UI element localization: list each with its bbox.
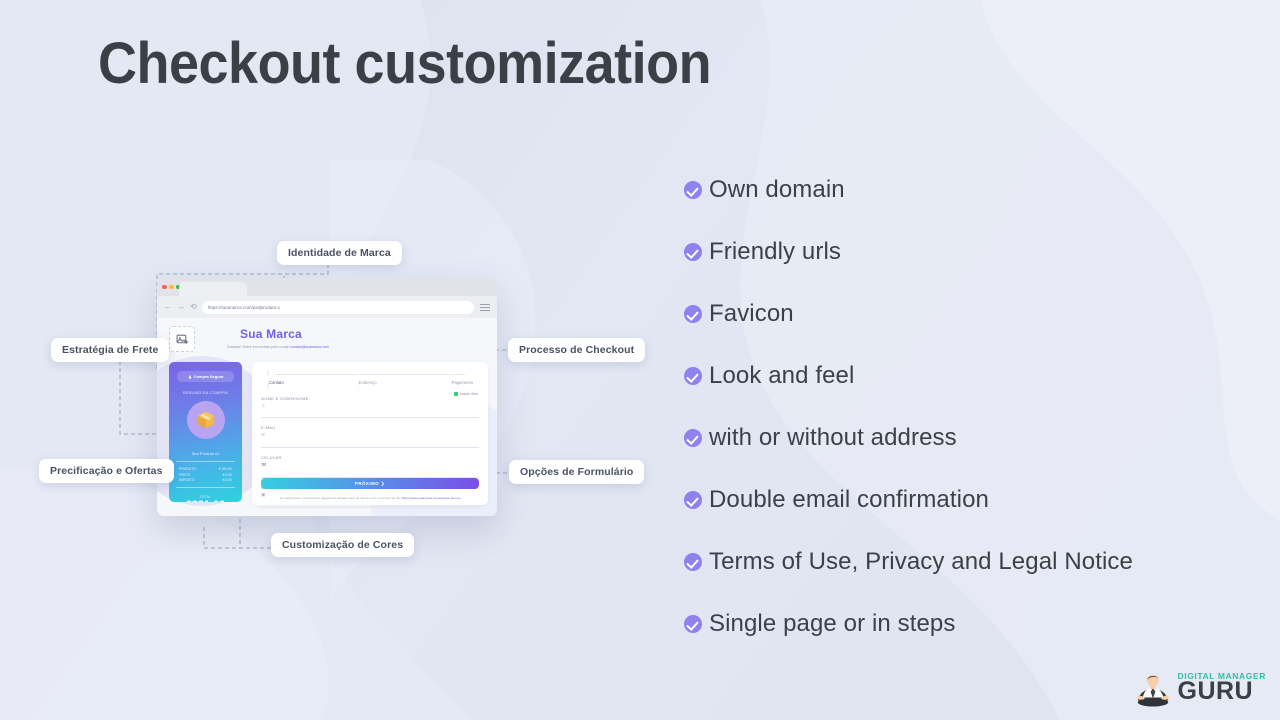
feature-label: Friendly urls (709, 238, 841, 266)
summary-row-label: FRETE (179, 473, 190, 477)
page-title: Checkout customization (98, 34, 711, 95)
total-value: €281.00 (169, 499, 242, 502)
field-label: NOME E SOBRENOME (261, 396, 479, 401)
callout-checkout-process: Processo de Checkout (508, 338, 645, 362)
summary-row-value: € 0,00 (223, 473, 232, 477)
privacy-badge: Intacto Web (454, 392, 478, 396)
field-email[interactable]: E-MAIL ✉ (261, 425, 479, 448)
field-celular[interactable]: CELULAR ☎ (261, 455, 479, 478)
callout-pricing-offers: Precificação e Ofertas (39, 459, 174, 483)
field-label: E-MAIL (261, 425, 479, 430)
list-item: Double email confirmation (684, 480, 1244, 520)
terms-text: Ao seguir para o processo de pagamento d… (274, 496, 466, 501)
summary-row-label: PRODUTO (179, 467, 196, 471)
check-circle-icon (684, 615, 702, 633)
check-circle-icon (684, 243, 702, 261)
checkout-form-card: Contato Endereço Pagamento Intacto Web (252, 362, 488, 505)
store-contact-line: Dúvidas? Entre em contato pelo e-mail co… (227, 345, 329, 349)
feature-label: Look and feel (709, 362, 854, 390)
minimize-dot-icon[interactable] (169, 285, 174, 290)
reload-icon[interactable]: ⟲ (190, 303, 197, 311)
check-circle-icon (684, 553, 702, 571)
feature-label: Double email confirmation (709, 486, 989, 514)
lock-icon (188, 375, 192, 379)
secure-purchase-badge: Compra Segura (177, 371, 234, 382)
store-brand-name: Sua Marca (240, 327, 302, 341)
feature-label: Own domain (709, 176, 845, 204)
feature-label: with or without address (709, 424, 957, 452)
privacy-badge-label: Intacto Web (460, 392, 478, 396)
logo-wordmark: DIGITAL MANAGER GURU (1178, 672, 1267, 704)
step-pagamento[interactable]: Pagamento (450, 371, 473, 389)
summary-row-label: IMPOSTO (179, 478, 195, 482)
terms-sentence: Ao seguir para o processo de pagamento d… (280, 496, 401, 500)
summary-heading: RESUMO DA COMPRA (169, 391, 242, 395)
field-underline (261, 417, 479, 418)
summary-row: IMPOSTO € 0,00 (169, 478, 242, 482)
list-item: Look and feel (684, 356, 1244, 396)
secure-badge-label: Compra Segura (194, 374, 224, 379)
list-item: Favicon (684, 294, 1244, 334)
digital-manager-guru-logo: DIGITAL MANAGER GURU (1134, 668, 1267, 708)
envelope-icon: ✉ (261, 432, 479, 438)
field-underline (261, 507, 479, 508)
summary-row-value: € 281,00 (219, 467, 232, 471)
callout-form-options: Opções de Formulário (509, 460, 644, 484)
browser-toolbar: ← → ⟲ https://suamarca.com/pedproduto-x (157, 296, 497, 318)
field-label: CELULAR (261, 455, 479, 460)
field-nome[interactable]: NOME E SOBRENOME ☺ (261, 396, 479, 418)
order-total: TOTAL €281.00 (169, 495, 242, 502)
checkout-mockup-diagram: ← → ⟲ https://suamarca.com/pedproduto-x … (28, 228, 658, 568)
field-underline (261, 447, 479, 448)
order-summary-panel: Compra Segura RESUMO DA COMPRA Seu Produ… (169, 362, 242, 502)
back-arrow-icon[interactable]: ← (164, 303, 172, 311)
feature-label: Favicon (709, 300, 794, 328)
terms-link[interactable]: https://www.suamarca.com/informe-de-uso (402, 496, 461, 500)
forward-arrow-icon[interactable]: → (177, 303, 185, 311)
address-bar[interactable]: https://suamarca.com/pedproduto-x (202, 301, 474, 314)
list-item: Own domain (684, 170, 1244, 210)
step-label: Endereço (359, 380, 377, 385)
close-dot-icon[interactable] (162, 285, 167, 290)
list-item: with or without address (684, 418, 1244, 458)
list-item: Single page or in steps (684, 604, 1244, 644)
callout-shipping-strategy: Estratégia de Frete (51, 338, 169, 362)
contact-email: contato@suamarca.com (290, 345, 329, 349)
list-item: Terms of Use, Privacy and Legal Notice (684, 542, 1244, 582)
image-upload-icon (176, 333, 189, 346)
checkout-steps: Contato Endereço Pagamento (261, 369, 479, 389)
logo-bottom-text: GURU (1178, 680, 1267, 704)
checkout-page-content: Sua Marca Dúvidas? Entre em contato pelo… (157, 318, 497, 516)
check-circle-icon (684, 305, 702, 323)
callout-color-customization: Customização de Cores (271, 533, 414, 557)
browser-window-mockup: ← → ⟲ https://suamarca.com/pedproduto-x … (157, 278, 497, 516)
check-circle-icon (684, 367, 702, 385)
browser-tab[interactable] (179, 282, 247, 296)
meditating-person-icon (1134, 668, 1172, 708)
callout-brand-identity: Identidade de Marca (277, 241, 402, 265)
product-name: Seu Produto x1 (169, 451, 242, 456)
feature-list: Own domain Friendly urls Favicon Look an… (684, 170, 1244, 644)
phone-icon: ☎ (261, 462, 479, 468)
step-contato[interactable]: Contato (267, 371, 284, 389)
package-thumb (187, 401, 225, 439)
check-circle-icon (684, 491, 702, 509)
store-logo-upload[interactable] (169, 326, 195, 352)
browser-titlebar (157, 278, 497, 296)
step-endereco[interactable]: Endereço (357, 371, 377, 389)
shield-icon (454, 392, 458, 396)
summary-row: FRETE € 0,00 (169, 473, 242, 477)
next-button[interactable]: PRÓXIMO ❯ (261, 478, 479, 489)
divider (176, 461, 235, 462)
summary-row-value: € 0,00 (223, 478, 232, 482)
person-icon: ☺ (261, 403, 479, 408)
list-item: Friendly urls (684, 232, 1244, 272)
package-box-icon (195, 409, 217, 431)
feature-label: Single page or in steps (709, 610, 955, 638)
step-label: Contato (269, 380, 284, 385)
summary-row: PRODUTO € 281,00 (169, 467, 242, 471)
feature-label: Terms of Use, Privacy and Legal Notice (709, 548, 1133, 576)
divider (176, 487, 235, 488)
hamburger-icon[interactable] (480, 302, 490, 313)
contact-prefix: Dúvidas? Entre em contato pelo e-mail (227, 345, 290, 349)
check-circle-icon (684, 429, 702, 447)
url-text: https://suamarca.com/pedproduto-x (208, 305, 280, 310)
check-circle-icon (684, 181, 702, 199)
step-label: Pagamento (452, 380, 473, 385)
